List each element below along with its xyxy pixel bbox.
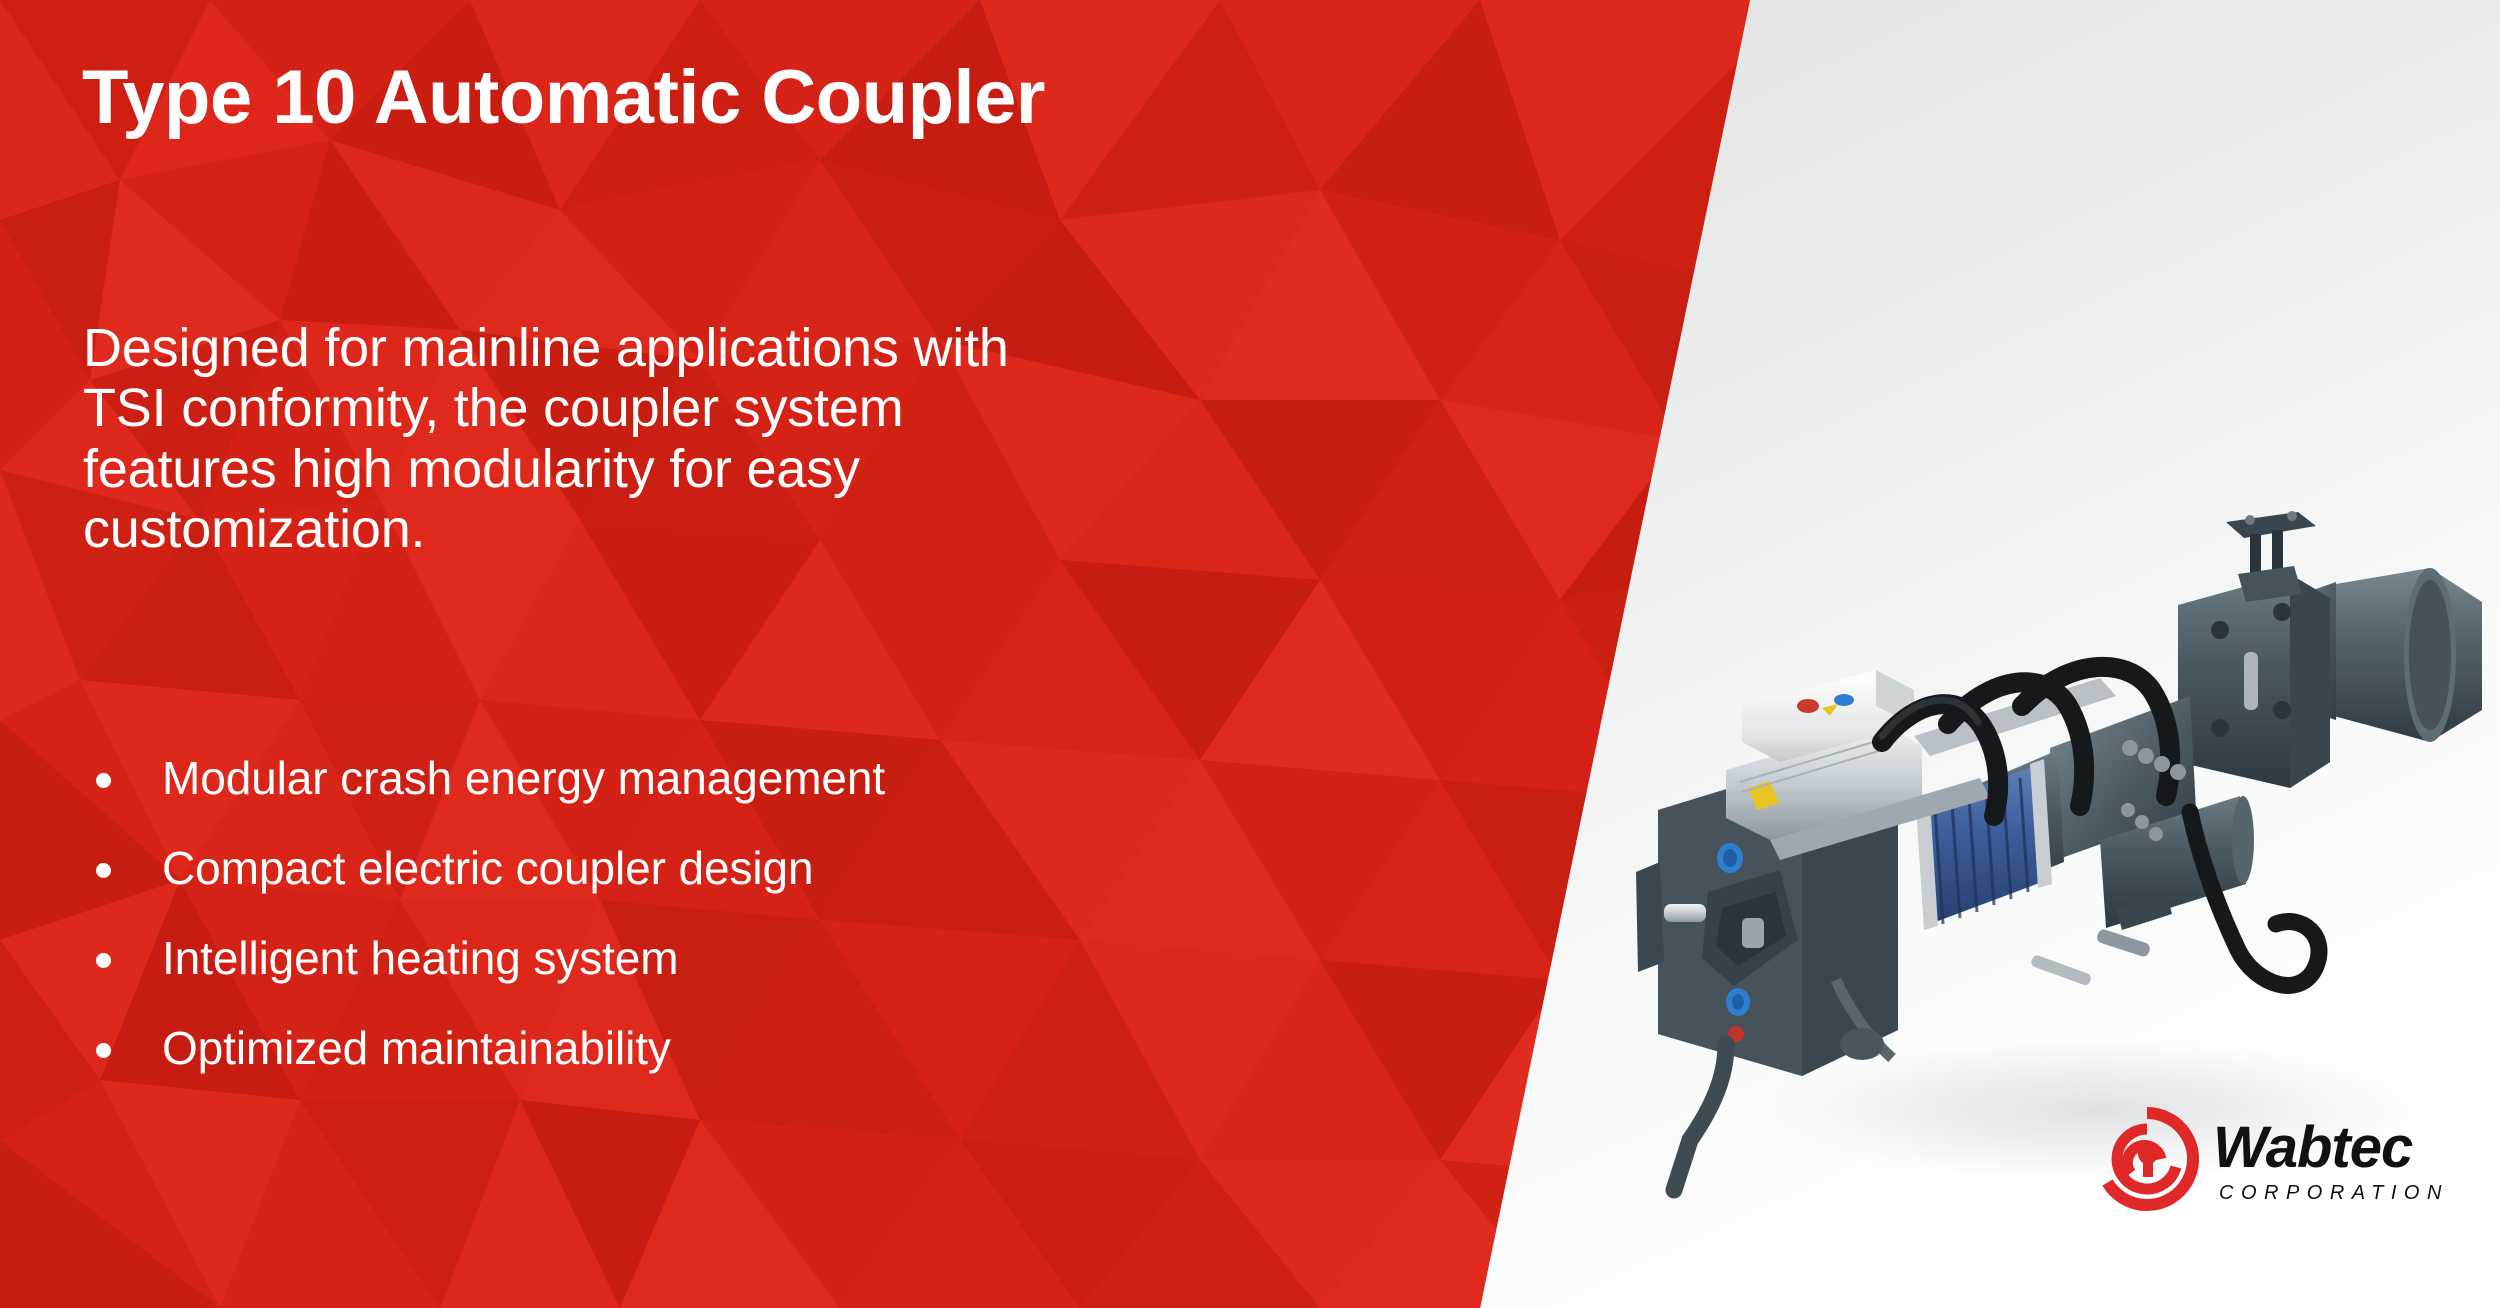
bullet-dot-icon xyxy=(96,1043,111,1058)
list-item: Intelligent heating system xyxy=(86,935,1046,981)
list-item: Modular crash energy management xyxy=(86,755,1046,801)
list-item-label: Optimized maintainability xyxy=(162,1022,671,1074)
list-item-label: Intelligent heating system xyxy=(162,932,678,984)
feature-list: Modular crash energy management Compact … xyxy=(86,755,1046,1115)
bullet-dot-icon xyxy=(96,953,111,968)
slide-description: Designed for mainline applications with … xyxy=(83,318,1043,560)
bullet-dot-icon xyxy=(96,863,111,878)
list-item-label: Compact electric coupler design xyxy=(162,842,813,894)
wabtec-wordmark: Wabtec xyxy=(2213,1119,2412,1177)
wabtec-subtitle: CORPORATION xyxy=(2219,1183,2449,1203)
slide-content: Type 10 Automatic Coupler Designed for m… xyxy=(82,0,1082,1308)
list-item: Optimized maintainability xyxy=(86,1025,1046,1071)
list-item-label: Modular crash energy management xyxy=(162,752,885,804)
bullet-dot-icon xyxy=(96,773,111,788)
wabtec-logo: Wabtec CORPORATION xyxy=(2095,1105,2445,1230)
slide-canvas: Type 10 Automatic Coupler Designed for m… xyxy=(0,0,2500,1308)
page-title: Type 10 Automatic Coupler xyxy=(82,58,1072,138)
list-item: Compact electric coupler design xyxy=(86,845,1046,891)
wabtec-spiral-icon xyxy=(2095,1107,2199,1211)
